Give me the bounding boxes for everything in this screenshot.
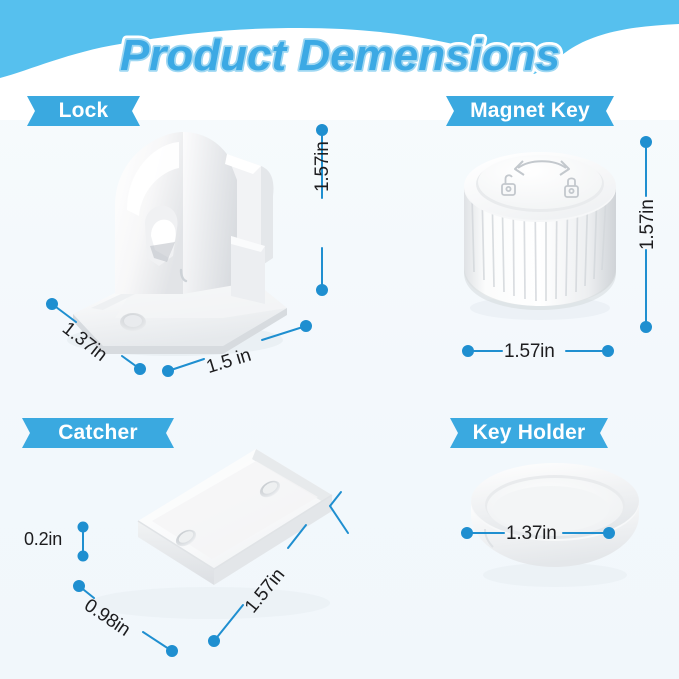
dim-label-catcher-thickness: 0.2in (24, 529, 62, 550)
section-label-text: Key Holder (473, 421, 586, 445)
dim-label-lock-height: 1.57in (312, 141, 334, 192)
section-label-key-holder: Key Holder (450, 418, 608, 448)
section-label-catcher: Catcher (22, 418, 174, 448)
section-label-text: Catcher (58, 421, 138, 445)
magnet-knob-icon (450, 130, 630, 330)
cabinet-lock-icon (55, 118, 300, 368)
product-dimensions-infographic: Product Demensions Product Demensions Pr… (0, 0, 679, 679)
section-label-text: Magnet Key (470, 99, 590, 123)
page-title: Product Demensions Product Demensions Pr… (0, 24, 679, 86)
dim-label-keyholder-diameter: 1.37in (506, 523, 557, 545)
section-label-magnet-key: Magnet Key (446, 96, 614, 126)
dim-label-magnet-height: 1.57in (637, 199, 659, 250)
dim-label-magnet-diameter: 1.57in (504, 341, 555, 363)
section-label-text: Lock (59, 99, 109, 123)
page-title-text: Product Demensions (119, 31, 559, 80)
section-label-lock: Lock (27, 96, 140, 126)
